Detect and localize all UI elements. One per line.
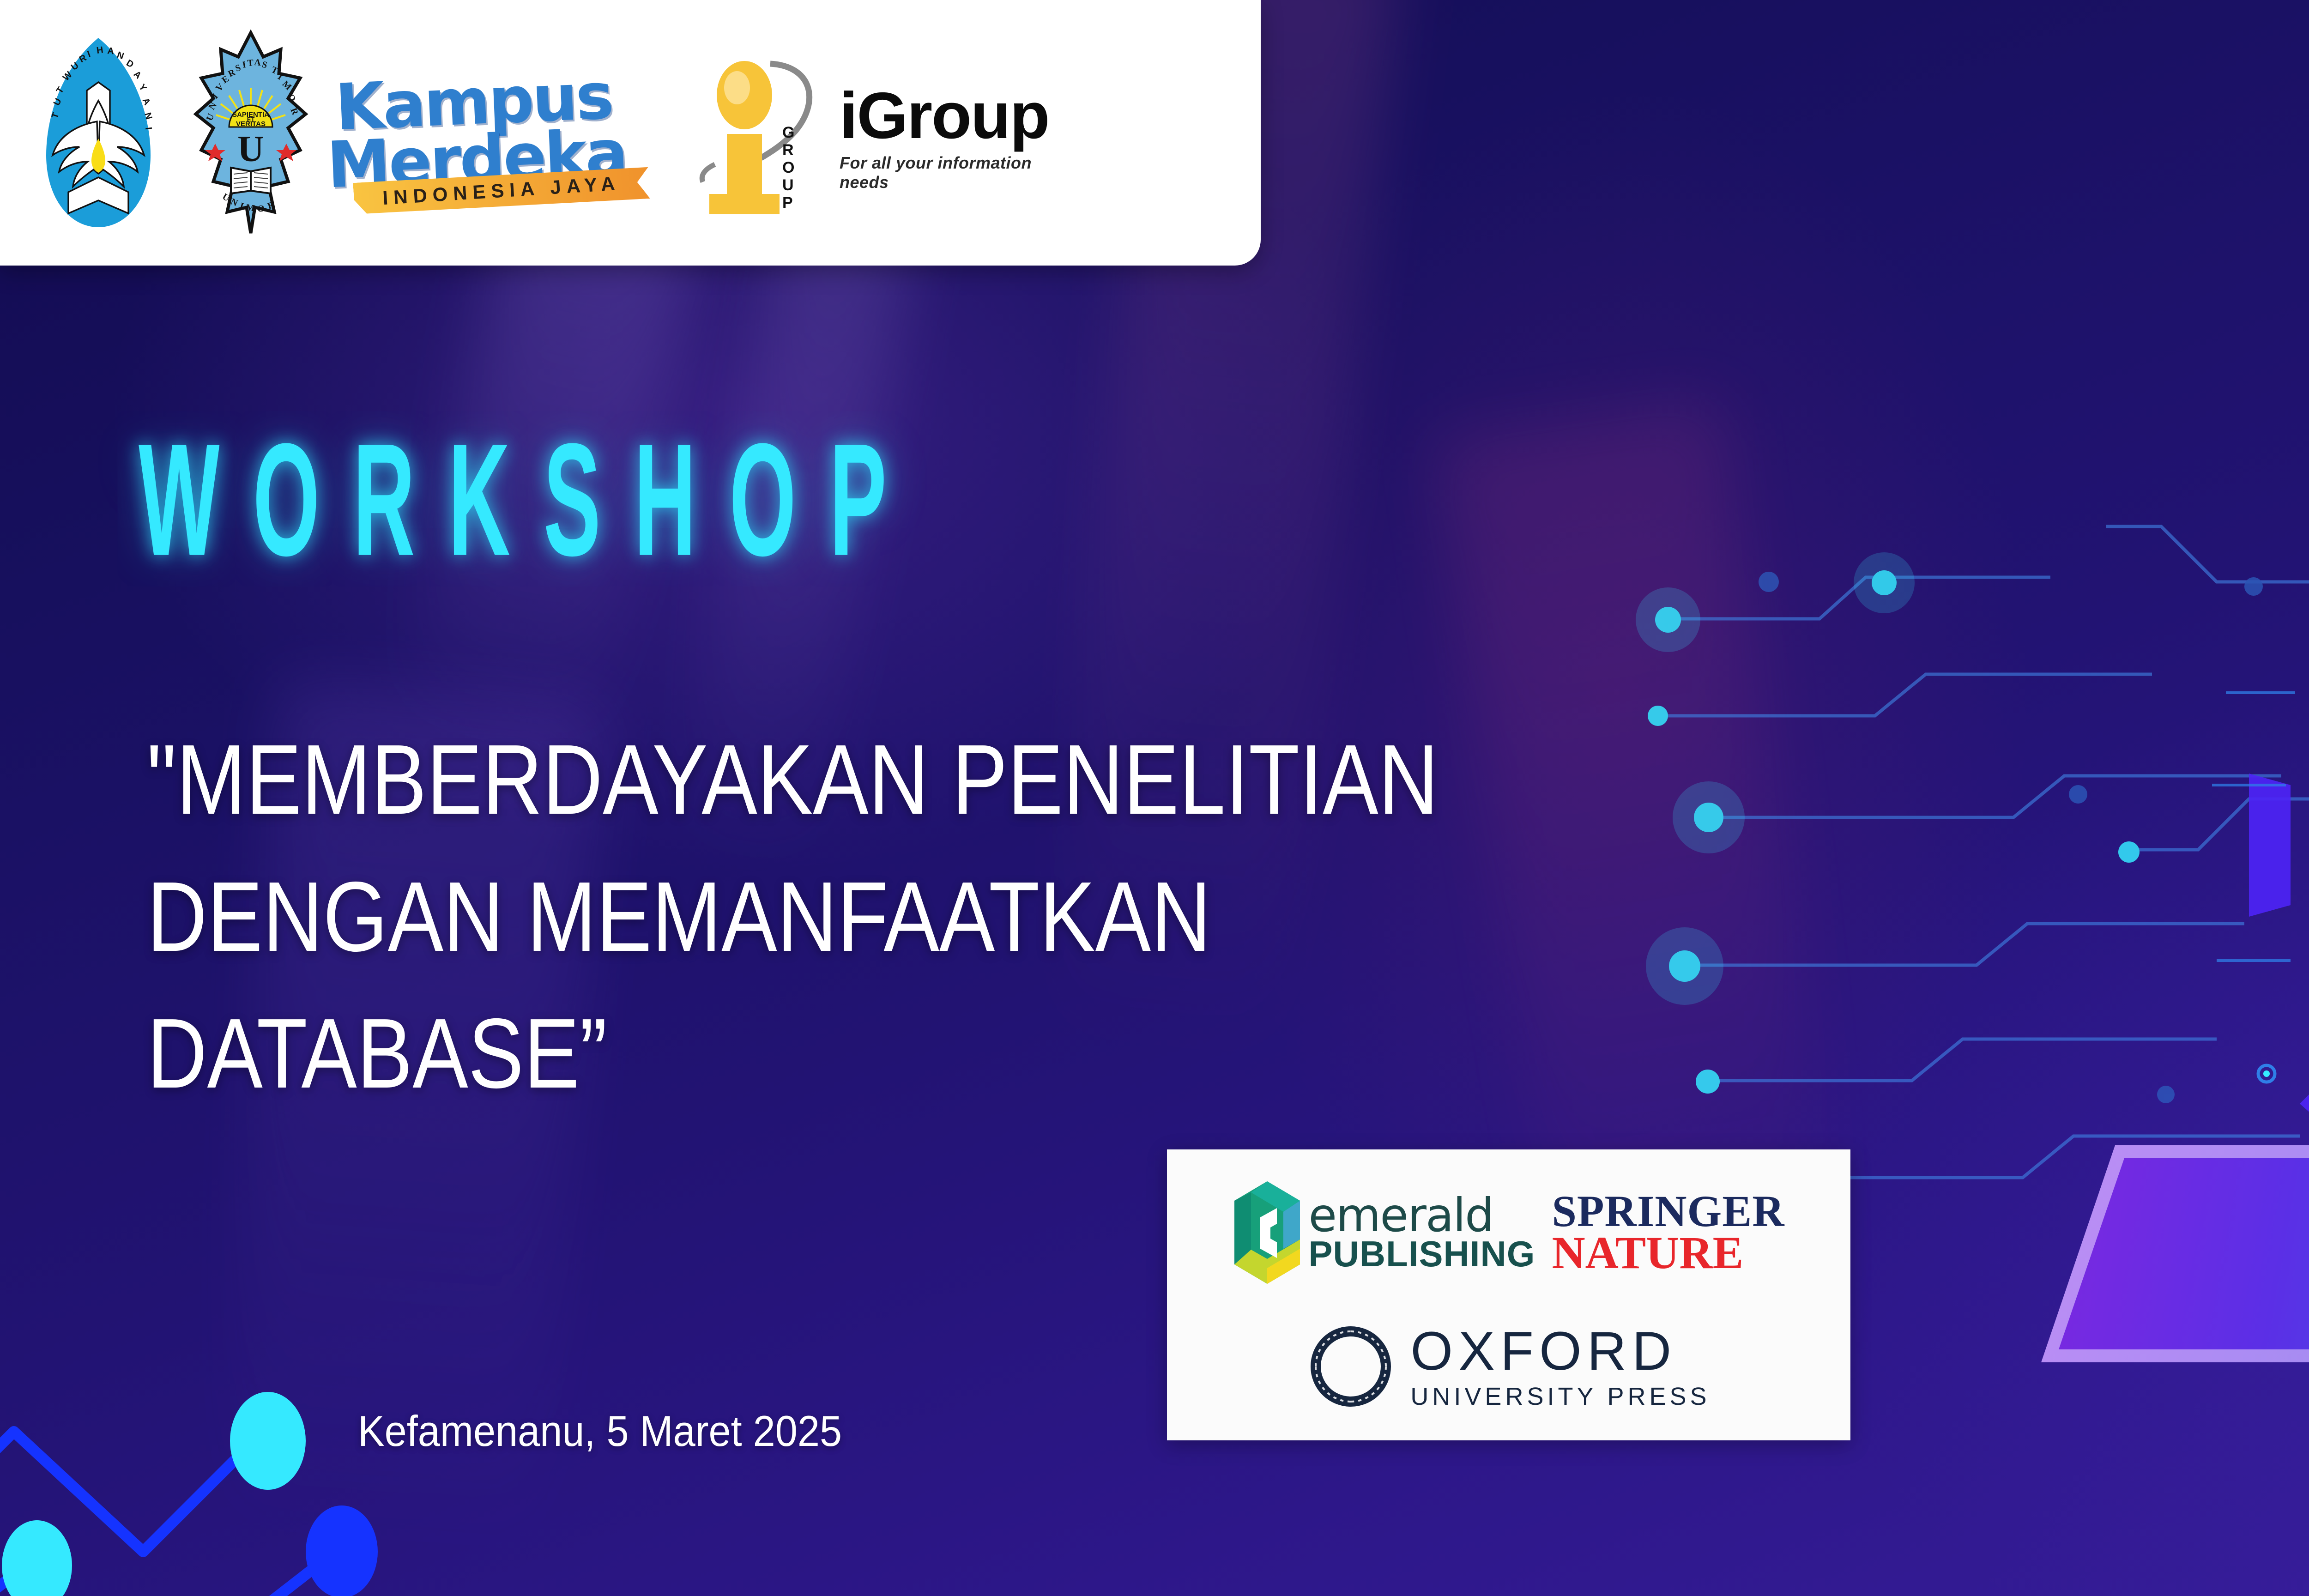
svg-text:H: H (96, 45, 104, 56)
nature-wordmark: Nature (1552, 1232, 1784, 1274)
svg-text:A: A (254, 57, 261, 68)
svg-text:Y: Y (137, 82, 149, 93)
publisher-logo-box: emerald PUBLISHING SPRINGER Nature (1167, 1149, 1850, 1440)
kemdikbud-tut-wuri-handayani-logo: TUT WURI HANDAYANI T U T W U R I H A N D… (41, 31, 156, 235)
unimor-motto-3: VERITAS (236, 120, 266, 128)
emerald-hexagon-icon (1233, 1179, 1302, 1286)
logo-slot-unimor: SAPIENTIA ET VERITAS U UN IV ER (175, 0, 327, 266)
svg-text:P: P (782, 194, 793, 212)
svg-text:M: M (245, 202, 255, 213)
tech-gear-ring-decoration (2198, 434, 2309, 1238)
emerald-subwordmark: PUBLISHING (1308, 1237, 1535, 1271)
title-line-1: "MEMBERDAYAKAN PENELITIAN (147, 711, 1815, 848)
oxford-rope-circle-icon (1307, 1323, 1395, 1410)
igroup-wordmark: iGroup (840, 83, 1049, 149)
igroup-tagline: For all your information needs (840, 153, 1049, 192)
svg-text:N: N (115, 49, 125, 61)
publisher-row-top: emerald PUBLISHING SPRINGER Nature (1181, 1163, 1837, 1302)
springer-wordmark: SPRINGER (1552, 1191, 1784, 1232)
svg-text:R: R (782, 141, 794, 159)
unimor-letter-u: U (237, 129, 264, 169)
oxford-subwordmark: UNIVERSITY PRESS (1410, 1384, 1710, 1409)
event-date-location: Kefamenanu, 5 Maret 2025 (358, 1406, 842, 1456)
logo-slot-igroup: GRO UP iGroup For all your information n… (692, 0, 1043, 266)
svg-text:G: G (782, 124, 794, 141)
publisher-row-bottom: OXFORD UNIVERSITY PRESS (1181, 1306, 1837, 1427)
workshop-theme-title: "MEMBERDAYAKAN PENELITIAN DENGAN MEMANFA… (147, 711, 1815, 1122)
speaker-name-banner: WIWI DWIYANTI (2041, 1145, 2309, 1362)
svg-text:T: T (247, 58, 254, 68)
workshop-poster: TUT WURI HANDAYANI T U T W U R I H A N D… (0, 0, 2309, 1596)
speaker-portrait-frame (2198, 434, 2309, 1238)
emerald-wordmark: emerald (1308, 1194, 1535, 1237)
institution-logo-bar: TUT WURI HANDAYANI T U T W U R I H A N D… (0, 0, 1261, 266)
svg-text:A: A (107, 46, 115, 56)
springer-nature-logo: SPRINGER Nature (1552, 1191, 1784, 1274)
svg-text:I: I (143, 127, 153, 130)
oxford-wordmark: OXFORD (1410, 1324, 1710, 1378)
svg-text:A: A (132, 69, 143, 81)
igroup-mark-icon: GRO UP (696, 45, 835, 221)
svg-text:D: D (125, 58, 136, 70)
universitas-timor-unimor-logo: SAPIENTIA ET VERITAS U UN IV ER (193, 29, 308, 237)
svg-text:O: O (782, 159, 794, 176)
emerald-publishing-logo: emerald PUBLISHING (1233, 1179, 1535, 1286)
svg-text:U: U (782, 176, 794, 194)
page-title-workshop: WORKSHOP (139, 423, 920, 576)
name-banner-fill (2059, 1158, 2309, 1349)
title-line-2: DENGAN MEMANFAATKAN (147, 848, 1815, 985)
logo-slot-kemdikbud: TUT WURI HANDAYANI T U T W U R I H A N D… (22, 0, 175, 266)
svg-text:O: O (257, 203, 265, 214)
logo-slot-kampus-merdeka: Kampus Merdeka INDONESIA JAYA (327, 0, 692, 266)
title-line-3: DATABASE” (147, 985, 1815, 1122)
